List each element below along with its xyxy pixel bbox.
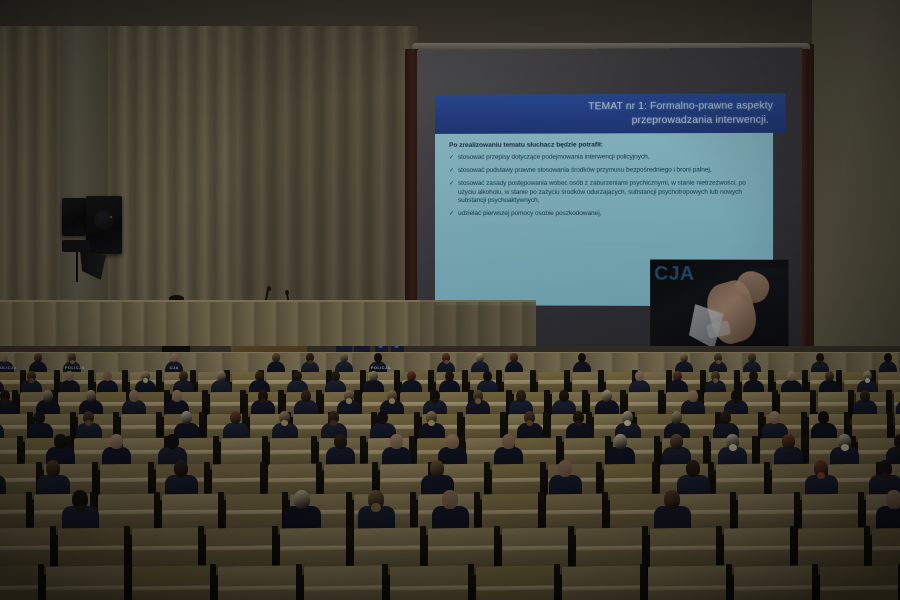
seat-back-rail bbox=[738, 509, 795, 514]
audience-member-head bbox=[635, 371, 644, 382]
audience-member-hair-bun bbox=[729, 444, 737, 451]
audience-member-head bbox=[103, 371, 112, 382]
auditorium-seat[interactable] bbox=[820, 565, 899, 600]
seat-back-rail bbox=[354, 545, 421, 550]
speaker-led bbox=[110, 216, 112, 218]
audience-member-head bbox=[664, 490, 680, 509]
mic-head-2 bbox=[285, 290, 289, 295]
audience-member-head bbox=[255, 371, 264, 382]
audience-member-hair-bun bbox=[733, 398, 739, 403]
wall-curtain-center bbox=[232, 26, 418, 322]
seat-back-rail bbox=[802, 509, 859, 514]
audience-member-head bbox=[294, 490, 310, 509]
seat-divider bbox=[468, 564, 474, 600]
audience-member-head bbox=[688, 390, 698, 402]
auditorium-seat[interactable] bbox=[476, 565, 555, 600]
auditorium-seat[interactable] bbox=[0, 565, 39, 600]
audience-member-hair-bun bbox=[376, 360, 381, 364]
audience-member-head bbox=[390, 434, 403, 449]
audience-member-hair-bun bbox=[143, 378, 148, 383]
audience-member-head bbox=[407, 371, 416, 382]
auditorium-seat[interactable] bbox=[304, 565, 383, 600]
seat-back-rail bbox=[121, 424, 157, 428]
audience-member-head bbox=[860, 390, 870, 402]
seat-back-rail bbox=[324, 477, 373, 482]
slide-bullet-3: stosować zasady postępowania wobec osób … bbox=[449, 180, 765, 206]
audience-member-hair-bun bbox=[70, 360, 75, 364]
auditorium-seat[interactable] bbox=[390, 565, 469, 600]
seat-back-rail bbox=[268, 477, 317, 482]
slide-photo-caption: CJA bbox=[654, 264, 694, 286]
seat-back-rail bbox=[572, 380, 599, 384]
seat-back-rail bbox=[628, 401, 659, 405]
mic-head-1 bbox=[267, 286, 271, 291]
seat-divider bbox=[812, 564, 818, 600]
audience-member-head bbox=[331, 371, 340, 382]
audience-member-head bbox=[217, 371, 226, 382]
audience-member-head bbox=[110, 434, 123, 449]
seat-back-rail bbox=[100, 477, 149, 482]
audience-member-hair-bun bbox=[432, 398, 438, 403]
audience-member-head bbox=[369, 371, 378, 382]
seat-back-rail bbox=[502, 545, 569, 550]
seat-back-rail bbox=[576, 545, 643, 550]
auditorium-seat[interactable] bbox=[46, 565, 125, 600]
seat-back-rail bbox=[780, 401, 811, 405]
audience-member-hair-bun bbox=[818, 360, 823, 364]
audience-member-head bbox=[558, 460, 572, 477]
audience-member-head bbox=[602, 390, 612, 402]
audience-member-head bbox=[673, 371, 682, 382]
seat-back-rail bbox=[818, 401, 849, 405]
seat-back-rail bbox=[878, 380, 900, 384]
audience-member-head bbox=[446, 434, 459, 449]
seat-back-rail bbox=[546, 509, 603, 514]
balcony-rail-left bbox=[0, 300, 420, 346]
uniform-jacket-label: POLICJA bbox=[65, 365, 80, 370]
audience-member-head bbox=[483, 371, 492, 382]
seat-back-rail bbox=[58, 545, 125, 550]
audience-member-hair-bun bbox=[260, 398, 266, 403]
audience-member-head bbox=[516, 390, 526, 402]
audience-member-head bbox=[293, 371, 302, 382]
audience-member-head bbox=[825, 371, 834, 382]
audience-member-head bbox=[782, 434, 795, 449]
seat-back-rail bbox=[0, 424, 28, 428]
seat-back-rail bbox=[716, 477, 765, 482]
uniform-jacket-label: POLICJA bbox=[0, 365, 12, 370]
seat-back-rail bbox=[0, 509, 27, 514]
slide-title-line1: TEMAT nr 1: Formalno-prawne aspekty bbox=[588, 99, 773, 114]
audience-member-hair-bun bbox=[444, 360, 449, 364]
auditorium-photo: TEMAT nr 1: Formalno-prawne aspekty prze… bbox=[0, 0, 900, 600]
seat-divider bbox=[296, 564, 302, 600]
audience-member-head bbox=[886, 490, 900, 509]
stage-monitor-speaker bbox=[62, 240, 90, 252]
auditorium-seat[interactable] bbox=[562, 565, 641, 600]
uniform-jacket-label: CJA bbox=[167, 365, 182, 370]
audience-member-hair-bun bbox=[841, 444, 849, 451]
seat-back-rail bbox=[604, 477, 653, 482]
seat-divider bbox=[124, 564, 130, 600]
audience-member-head bbox=[787, 371, 796, 382]
speaker-cable bbox=[76, 252, 78, 282]
seat-back-rail bbox=[428, 545, 495, 550]
seat-back-rail bbox=[852, 424, 888, 428]
seat-divider bbox=[210, 564, 216, 600]
slide-title-line2: przeprowadzania interwencji. bbox=[632, 113, 773, 128]
slide-bullet-4: udzielać pierwszej pomocy osobie poszkod… bbox=[449, 210, 765, 219]
audience-member-hair-bun bbox=[716, 360, 721, 364]
audience-member-head bbox=[166, 434, 179, 449]
audience-member-hair-bun bbox=[389, 398, 395, 403]
audience-member-head bbox=[43, 390, 53, 402]
seat-divider bbox=[640, 564, 646, 600]
slide-bullet-2: stosować podstawy prawne stosowania środ… bbox=[449, 166, 765, 175]
seat-back-rail bbox=[492, 477, 541, 482]
seat-back-rail bbox=[606, 380, 633, 384]
seat-back-rail bbox=[872, 545, 900, 550]
audience-member-head bbox=[502, 434, 515, 449]
audience-member-head bbox=[46, 460, 60, 477]
audience-member-hair-bun bbox=[346, 398, 352, 403]
audience-member-hair-bun bbox=[371, 503, 381, 512]
wall-speaker-small-icon bbox=[62, 198, 86, 236]
seat-divider bbox=[726, 564, 732, 600]
seat-back-rail bbox=[132, 545, 199, 550]
audience-member-head bbox=[614, 434, 627, 449]
audience-member-head bbox=[301, 390, 311, 402]
speaker-cone bbox=[94, 210, 114, 230]
audience-member-head bbox=[86, 390, 96, 402]
audience-member-head bbox=[54, 434, 67, 449]
seat-back-rail bbox=[280, 545, 347, 550]
seat-back-rail bbox=[0, 380, 21, 384]
audience-member-head bbox=[179, 371, 188, 382]
audience-member-hair-bun bbox=[29, 378, 34, 383]
seat-divider bbox=[554, 564, 560, 600]
wall-curtain-left bbox=[0, 26, 232, 322]
audience-member-hair-bun bbox=[2, 398, 8, 403]
audience-member-head bbox=[334, 434, 347, 449]
audience-member-head bbox=[559, 390, 569, 402]
seat-back-rail bbox=[724, 545, 791, 550]
audience-member-head bbox=[670, 434, 683, 449]
slide-title-band: TEMAT nr 1: Formalno-prawne aspekty prze… bbox=[435, 93, 785, 134]
seat-back-rail bbox=[650, 545, 717, 550]
audience-member-head bbox=[749, 371, 758, 382]
seat-back-rail bbox=[210, 401, 241, 405]
seat-back-rail bbox=[226, 509, 283, 514]
audience-member-head bbox=[686, 460, 700, 477]
right-wall bbox=[812, 0, 900, 372]
seat-back-rail bbox=[98, 509, 155, 514]
auditorium-seat[interactable] bbox=[734, 565, 813, 600]
seat-divider bbox=[382, 564, 388, 600]
audience-member-head bbox=[172, 390, 182, 402]
balcony-rail-right bbox=[400, 300, 536, 346]
audience-member-head bbox=[129, 390, 139, 402]
seat-back-rail bbox=[504, 380, 531, 384]
audience-member-hair-bun bbox=[475, 398, 481, 403]
seat-back-rail bbox=[206, 545, 273, 550]
audience-member-head bbox=[445, 371, 454, 382]
audience-member-hair-bun bbox=[713, 378, 718, 383]
audience-member-head bbox=[442, 490, 458, 509]
auditorium-seat[interactable] bbox=[132, 565, 211, 600]
auditorium-seat[interactable] bbox=[648, 565, 727, 600]
audience-member-head bbox=[430, 460, 444, 477]
seat-back-rail bbox=[798, 545, 865, 550]
slide-lead-text: Po zrealizowaniu tematu słuchacz będzie … bbox=[449, 140, 765, 150]
seat-back-rail bbox=[465, 424, 501, 428]
seat-back-rail bbox=[538, 380, 565, 384]
slide-bullet-1: stosować przepisy dotyczące podejmowania… bbox=[449, 153, 765, 162]
seat-back-rail bbox=[212, 477, 261, 482]
seat-back-rail bbox=[162, 509, 219, 514]
seat-back-rail bbox=[895, 424, 900, 428]
audience-member-head bbox=[65, 371, 74, 382]
uniform-jacket-label: POLICJA bbox=[371, 365, 386, 370]
audience-member-head bbox=[174, 460, 188, 477]
audience-member-hair-bun bbox=[75, 503, 85, 512]
auditorium-seat[interactable] bbox=[218, 565, 297, 600]
audience-member-hair-bun bbox=[865, 378, 870, 383]
seat-back-rail bbox=[482, 509, 539, 514]
slide-photo-inset: CJA bbox=[650, 259, 788, 359]
seat-divider bbox=[38, 564, 44, 600]
audience-member-hair-bun bbox=[308, 360, 313, 364]
